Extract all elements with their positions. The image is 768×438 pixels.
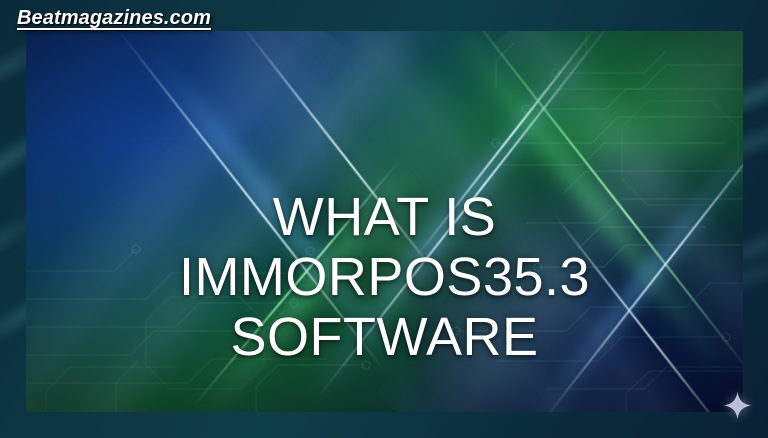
featured-image-canvas: WHAT IS IMMORPOS35.3 SOFTWARE Beatmagazi…: [0, 0, 768, 438]
site-watermark[interactable]: Beatmagazines.com: [17, 7, 211, 29]
headline-container: WHAT IS IMMORPOS35.3 SOFTWARE: [26, 187, 743, 367]
tech-background-panel: WHAT IS IMMORPOS35.3 SOFTWARE: [26, 31, 743, 412]
sparkle-icon: [723, 391, 752, 420]
page-title: WHAT IS IMMORPOS35.3 SOFTWARE: [66, 187, 703, 367]
